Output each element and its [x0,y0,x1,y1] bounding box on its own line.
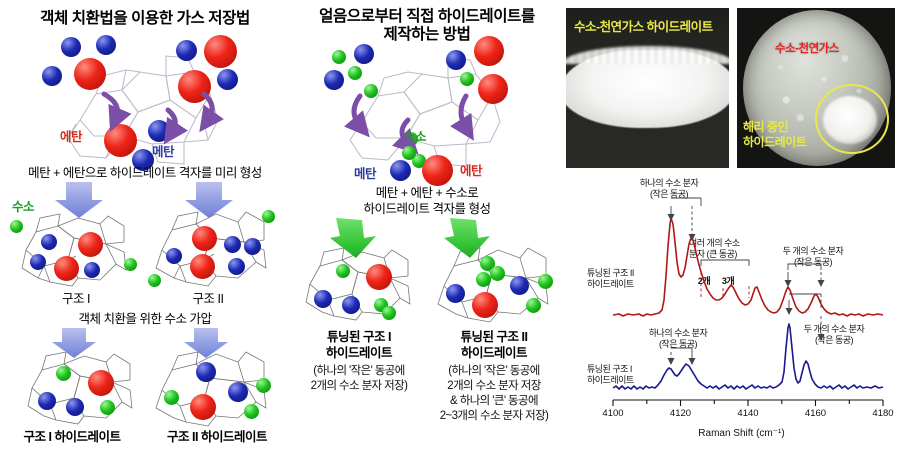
xtick-4140: 4140 [728,408,768,419]
hydrogen-sphere [490,266,505,281]
methane-sphere [228,258,245,275]
methane-sphere [196,362,216,382]
ethane-sphere [422,155,453,186]
left-step1-caption: 메탄 + 에탄으로 하이드레이트 격자를 미리 형성 [2,166,288,182]
photo-2-bottom-label: 해리 중인 하이드레이트 [743,120,806,150]
hydrogen-sphere [244,404,259,419]
methane-sphere [66,398,84,416]
annotation-leaders-bottom [671,294,821,358]
tuned-hydrate-2-note: (하나의 '작은' 동공에 2개의 수소 분자 저장 & 하나의 '큰' 동공에… [422,364,566,424]
hydrogen-sphere [100,400,115,415]
ethane-sphere [88,370,114,396]
hydrogen-sphere [10,220,23,233]
middle-panel-title-line1: 얼음으로부터 직접 하이드레이트를 [292,8,562,27]
ethane-sphere [472,292,498,318]
hydrogen-sphere [402,146,416,160]
methane-sphere [342,296,360,314]
hydrogen-sphere [382,306,396,320]
methane-sphere [41,234,57,250]
photo-2-top-label: 수소-천연가스 [775,40,839,56]
series-structure-2-trace [613,218,883,316]
ethane-sphere [78,232,103,257]
yellow-highlight-circle [815,84,889,154]
annotation-arrowheads-bottom [668,308,825,365]
hydrogen-sphere [262,210,275,223]
xtick-4160: 4160 [796,408,836,419]
ethane-sphere [54,256,79,281]
xtick-4120: 4120 [661,408,701,419]
hydrogen-natural-gas-hydrate-photo: 수소-천연가스 하이드레이트 [566,8,729,168]
hydrogen-sphere [124,258,137,271]
ethane-label-left: 에탄 [60,126,82,145]
cage-wireframe [16,212,136,292]
tuned-hydrate-1-cage [300,248,420,326]
ethane-label-middle: 에탄 [460,160,482,179]
x-axis-label: Raman Shift (cm⁻¹) [583,428,900,439]
annotation-leaders-top [671,198,821,298]
tuned-hydrate-1-label-line1: 튜닝된 구조 I [292,330,426,346]
methane-sphere [166,248,182,264]
hydrogen-sphere [164,390,179,405]
spectrum-plot-svg [583,176,900,420]
tuned-hydrate-1-label-line2: 하이드레이트 [292,346,426,362]
hydrate-1-label-left: 구조 I 하이드레이트 [2,430,142,446]
middle-step-caption-line2: 하이드레이트 격자를 형성 [292,202,562,218]
guest-insert-arrows [18,32,274,172]
cage-wireframe [300,248,420,326]
left-panel: 객체 치환법을 이용한 가스 저장법 [0,0,290,454]
series-structure-1-trace [613,324,883,389]
tuned-hydrate-2-label-line2: 하이드레이트 [426,346,562,362]
xtick-4180: 4180 [863,408,900,419]
methane-sphere [84,262,100,278]
photo-1-label: 수소-천연가스 하이드레이트 [574,16,713,35]
left-panel-title: 객체 치환법을 이용한 가스 저장법 [2,10,288,29]
hydrogen-sphere [476,272,491,287]
structure-1-label-left: 구조 I [26,292,126,308]
cage-wireframe [22,352,142,430]
annotation-arrowheads-top [668,214,825,287]
hydrate-1-cage-left [22,352,142,430]
ethane-sphere [190,394,216,420]
xtick-4100: 4100 [593,408,633,419]
left-step2-caption: 객체 치환을 위한 수소 가압 [2,312,288,328]
methane-sphere [314,290,332,308]
ethane-sphere [192,226,217,251]
methane-sphere [38,392,56,410]
tuned-hydrate-2-cage [432,246,558,326]
hydrogen-sphere [256,378,271,393]
ethane-sphere [190,254,215,279]
raman-spectrum-chart: 하나의 수소 분자 (작은 동공) 여러 개의 수소 분자 (큰 동공) 2개 … [583,176,900,454]
hydrogen-sphere [526,298,541,313]
middle-panel: 얼음으로부터 직접 하이드레이트를 제작하는 방법 [292,0,562,454]
methane-sphere [244,238,261,255]
structure-2-label-left: 구조 II [158,292,258,308]
hydrogen-sphere [148,274,161,287]
methane-label-middle: 메탄 [354,163,376,182]
methane-sphere [510,276,529,295]
methane-sphere [446,284,465,303]
methane-sphere [390,160,411,181]
structure-1-cage-left [16,212,136,292]
tuned-hydrate-2-label-line1: 튜닝된 구조 II [426,330,562,346]
hydrogen-sphere [56,366,71,381]
methane-sphere [228,382,248,402]
hydrate-2-cage-left [150,350,276,430]
ethane-sphere [366,264,392,290]
hydrogen-sphere [538,274,553,289]
methane-sphere [224,236,241,253]
x-axis [613,400,883,406]
left-lattice-illustration [18,32,274,172]
hydrogen-label-middle: 수소 [404,126,426,145]
structure-2-cage-left [150,208,276,292]
methane-label-left: 메탄 [152,141,174,160]
methane-sphere [30,254,46,270]
guest-insert-arrows-middle [302,36,552,168]
hydrogen-sphere [336,264,350,278]
middle-step-caption-line1: 메탄 + 에탄 + 수소로 [292,186,562,202]
hydrate-2-label-left: 구조 II 하이드레이트 [146,430,288,446]
middle-lattice-illustration [302,36,552,168]
dissociating-hydrate-photo: 수소-천연가스 해리 중인 하이드레이트 [737,8,895,168]
tuned-hydrate-1-note: (하나의 '작은' 동공에 2개의 수소 분자 저장) [288,364,430,394]
